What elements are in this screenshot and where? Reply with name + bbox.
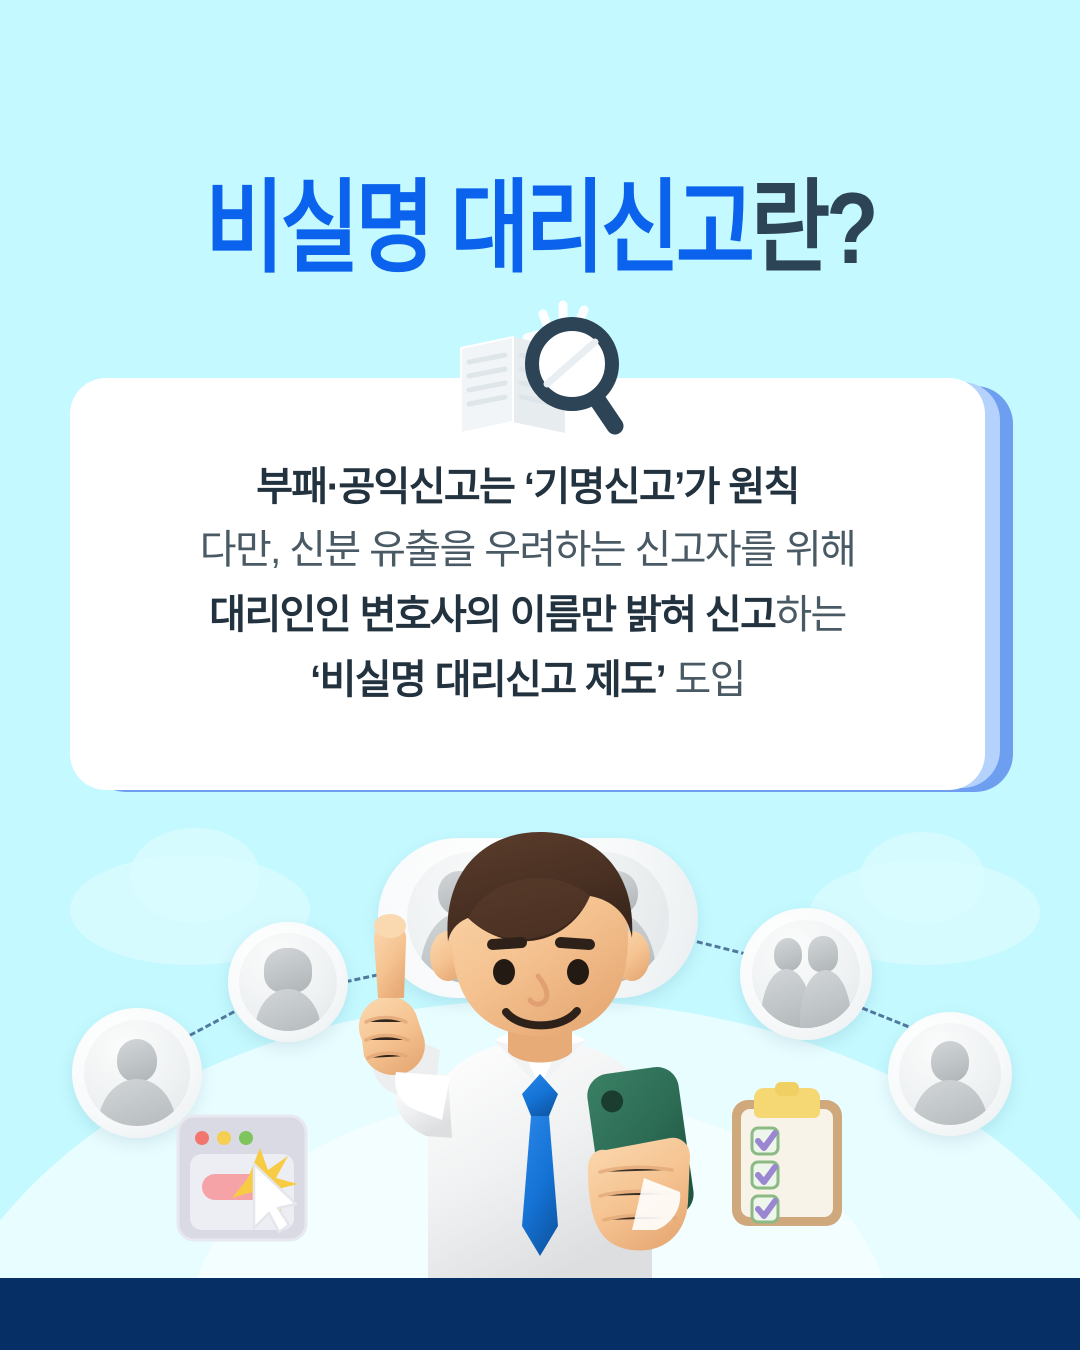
businessman-character	[300, 826, 780, 1286]
line3-regular: 하는	[775, 593, 845, 637]
page-title: 비실명 대리신고란?	[0, 178, 1080, 264]
book-magnifier-icon	[455, 296, 645, 441]
line2-regular: 다만, 신분 유출을 우려하는 신고자를 위해	[200, 528, 855, 572]
cloud-right-bump	[860, 832, 985, 924]
line4-regular: 도입	[665, 658, 745, 702]
info-card-line-2: 다만, 신분 유출을 우려하는 신고자를 위해	[70, 522, 985, 579]
title-highlight: 비실명 대리신고	[205, 172, 751, 285]
browser-cursor-icon	[176, 1112, 308, 1244]
avatar-single-right-outer	[888, 1012, 1012, 1136]
line1-bold: 부패·공익신고는 ‘기명신고’가 원칙	[256, 465, 799, 509]
cloud-left-bump	[130, 828, 260, 923]
info-card-line-3: 대리인인 변호사의 이름만 밝혀 신고하는	[70, 585, 985, 644]
title-suffix: 란?	[751, 172, 875, 285]
line3-bold: 대리인인 변호사의 이름만 밝혀 신고	[209, 593, 775, 637]
poster-root: 비실명 대리신고란?	[0, 0, 1080, 1350]
info-card-line-1: 부패·공익신고는 ‘기명신고’가 원칙	[70, 459, 985, 516]
footer-bar	[0, 1278, 1080, 1350]
line4-bold: ‘비실명 대리신고 제도’	[310, 658, 665, 702]
info-card-line-4: ‘비실명 대리신고 제도’ 도입	[70, 650, 985, 709]
